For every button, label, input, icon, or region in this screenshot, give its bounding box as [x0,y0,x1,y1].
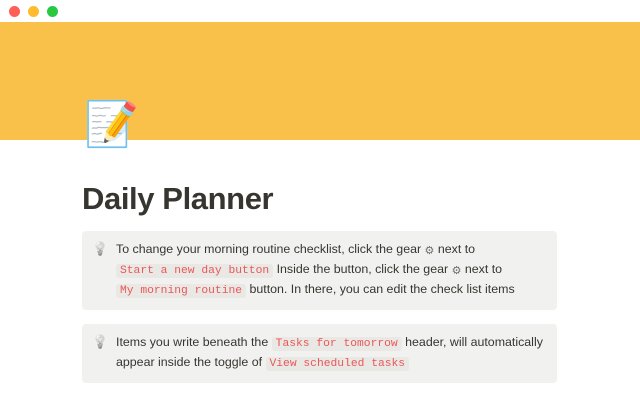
callout-1-seg-0: To change your morning routine checklist… [116,242,425,256]
memo-emoji[interactable]: 📝 [84,99,136,151]
callout-block-1[interactable]: 💡 To change your morning routine checkli… [82,231,557,310]
page-cover-banner[interactable]: 📝 [0,22,640,140]
callout-block-2[interactable]: 💡 Items you write beneath the Tasks for … [82,324,557,383]
lightbulb-icon: 💡 [92,333,109,350]
maximize-window-button[interactable] [47,6,58,17]
lightbulb-icon: 💡 [92,240,109,257]
page-title[interactable]: Daily Planner [82,140,558,217]
close-window-button[interactable] [9,6,20,17]
callout-1-seg-8: button. In there, you can edit the check… [246,282,515,296]
page-body: Daily Planner 💡 To change your morning r… [0,140,640,400]
minimize-window-button[interactable] [28,6,39,17]
code-view-scheduled-tasks: View scheduled tasks [266,357,410,371]
traffic-lights [9,6,58,17]
code-tasks-for-tomorrow: Tasks for tomorrow [272,337,402,351]
callout-2-text: Items you write beneath the Tasks for to… [116,333,545,373]
callout-2-seg-0: Items you write beneath the [116,335,272,349]
callout-1-seg-4: Inside the button, click the gear [273,262,451,276]
code-start-a-new-day-button: Start a new day button [116,264,273,278]
app-window: 📝 Daily Planner 💡 To change your morning… [0,0,640,400]
callout-1-seg-2: next to [434,242,475,256]
code-my-morning-routine: My morning routine [116,284,246,298]
window-titlebar [0,0,640,22]
gear-icon: ⚙ [452,265,462,277]
callout-1-text: To change your morning routine checklist… [116,240,545,300]
gear-icon: ⚙ [425,245,435,257]
callout-1-seg-6: next to [461,262,502,276]
